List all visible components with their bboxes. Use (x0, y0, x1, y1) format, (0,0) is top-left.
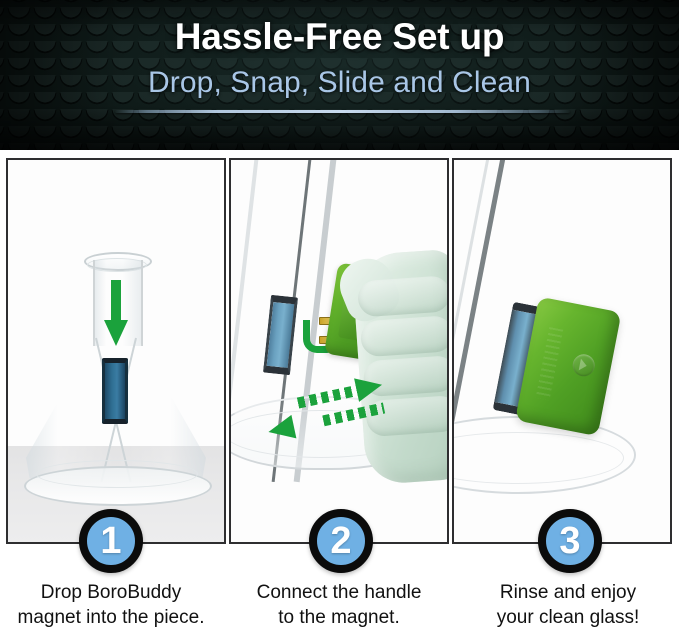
step-badge-2: 2 (309, 509, 373, 573)
photo-stage-2 (231, 160, 447, 542)
blue-magnet-icon (102, 358, 128, 424)
header-divider (115, 110, 570, 113)
step-caption-2: Connect the handle to the magnet. (226, 580, 452, 630)
header-text-group: Hassle-Free Set up Drop, Snap, Slide and… (0, 0, 679, 150)
arrow-left (293, 403, 385, 433)
caption-line: magnet into the piece. (0, 605, 224, 630)
caption-line: to the magnet. (226, 605, 452, 630)
brand-logo-icon (571, 352, 597, 378)
arrow-head (354, 373, 384, 402)
infographic-root: Hassle-Free Set up Drop, Snap, Slide and… (0, 0, 679, 634)
down-arrow-icon (104, 280, 128, 346)
caption-line: your clean glass! (455, 605, 679, 630)
arrow-dashes (297, 385, 360, 409)
step-panel-1 (6, 158, 226, 544)
step-caption-3: Rinse and enjoy your clean glass! (455, 580, 679, 630)
hand-finger (357, 275, 449, 317)
gloved-hand (351, 249, 449, 486)
caption-line: Drop BoroBuddy (0, 580, 224, 605)
arrow-head (104, 320, 128, 346)
caption-line: Connect the handle (226, 580, 452, 605)
step-badge-3: 3 (538, 509, 602, 573)
borobuddy-cleaner (491, 292, 632, 442)
page-title: Hassle-Free Set up (0, 15, 679, 59)
arrow-dashes (322, 403, 385, 427)
step-badge-1: 1 (79, 509, 143, 573)
step-caption-1: Drop BoroBuddy magnet into the piece. (0, 580, 224, 630)
step-panel-3 (452, 158, 672, 544)
photo-stage-3 (454, 160, 670, 542)
erlenmeyer-flask-icon (20, 238, 212, 506)
step-panel-2 (229, 158, 449, 544)
page-subtitle: Drop, Snap, Slide and Clean (0, 64, 679, 102)
arrow-head (266, 415, 296, 444)
flask-base-inner (36, 460, 198, 488)
header-banner: Hassle-Free Set up Drop, Snap, Slide and… (0, 0, 679, 150)
photo-stage-1 (8, 160, 224, 542)
slide-arrows-icon (283, 388, 403, 444)
hand-finger (360, 315, 449, 357)
arrow-shaft (111, 280, 121, 324)
step-panel-row (0, 158, 679, 548)
caption-line: Rinse and enjoy (455, 580, 679, 605)
brand-text-emboss (536, 327, 563, 400)
